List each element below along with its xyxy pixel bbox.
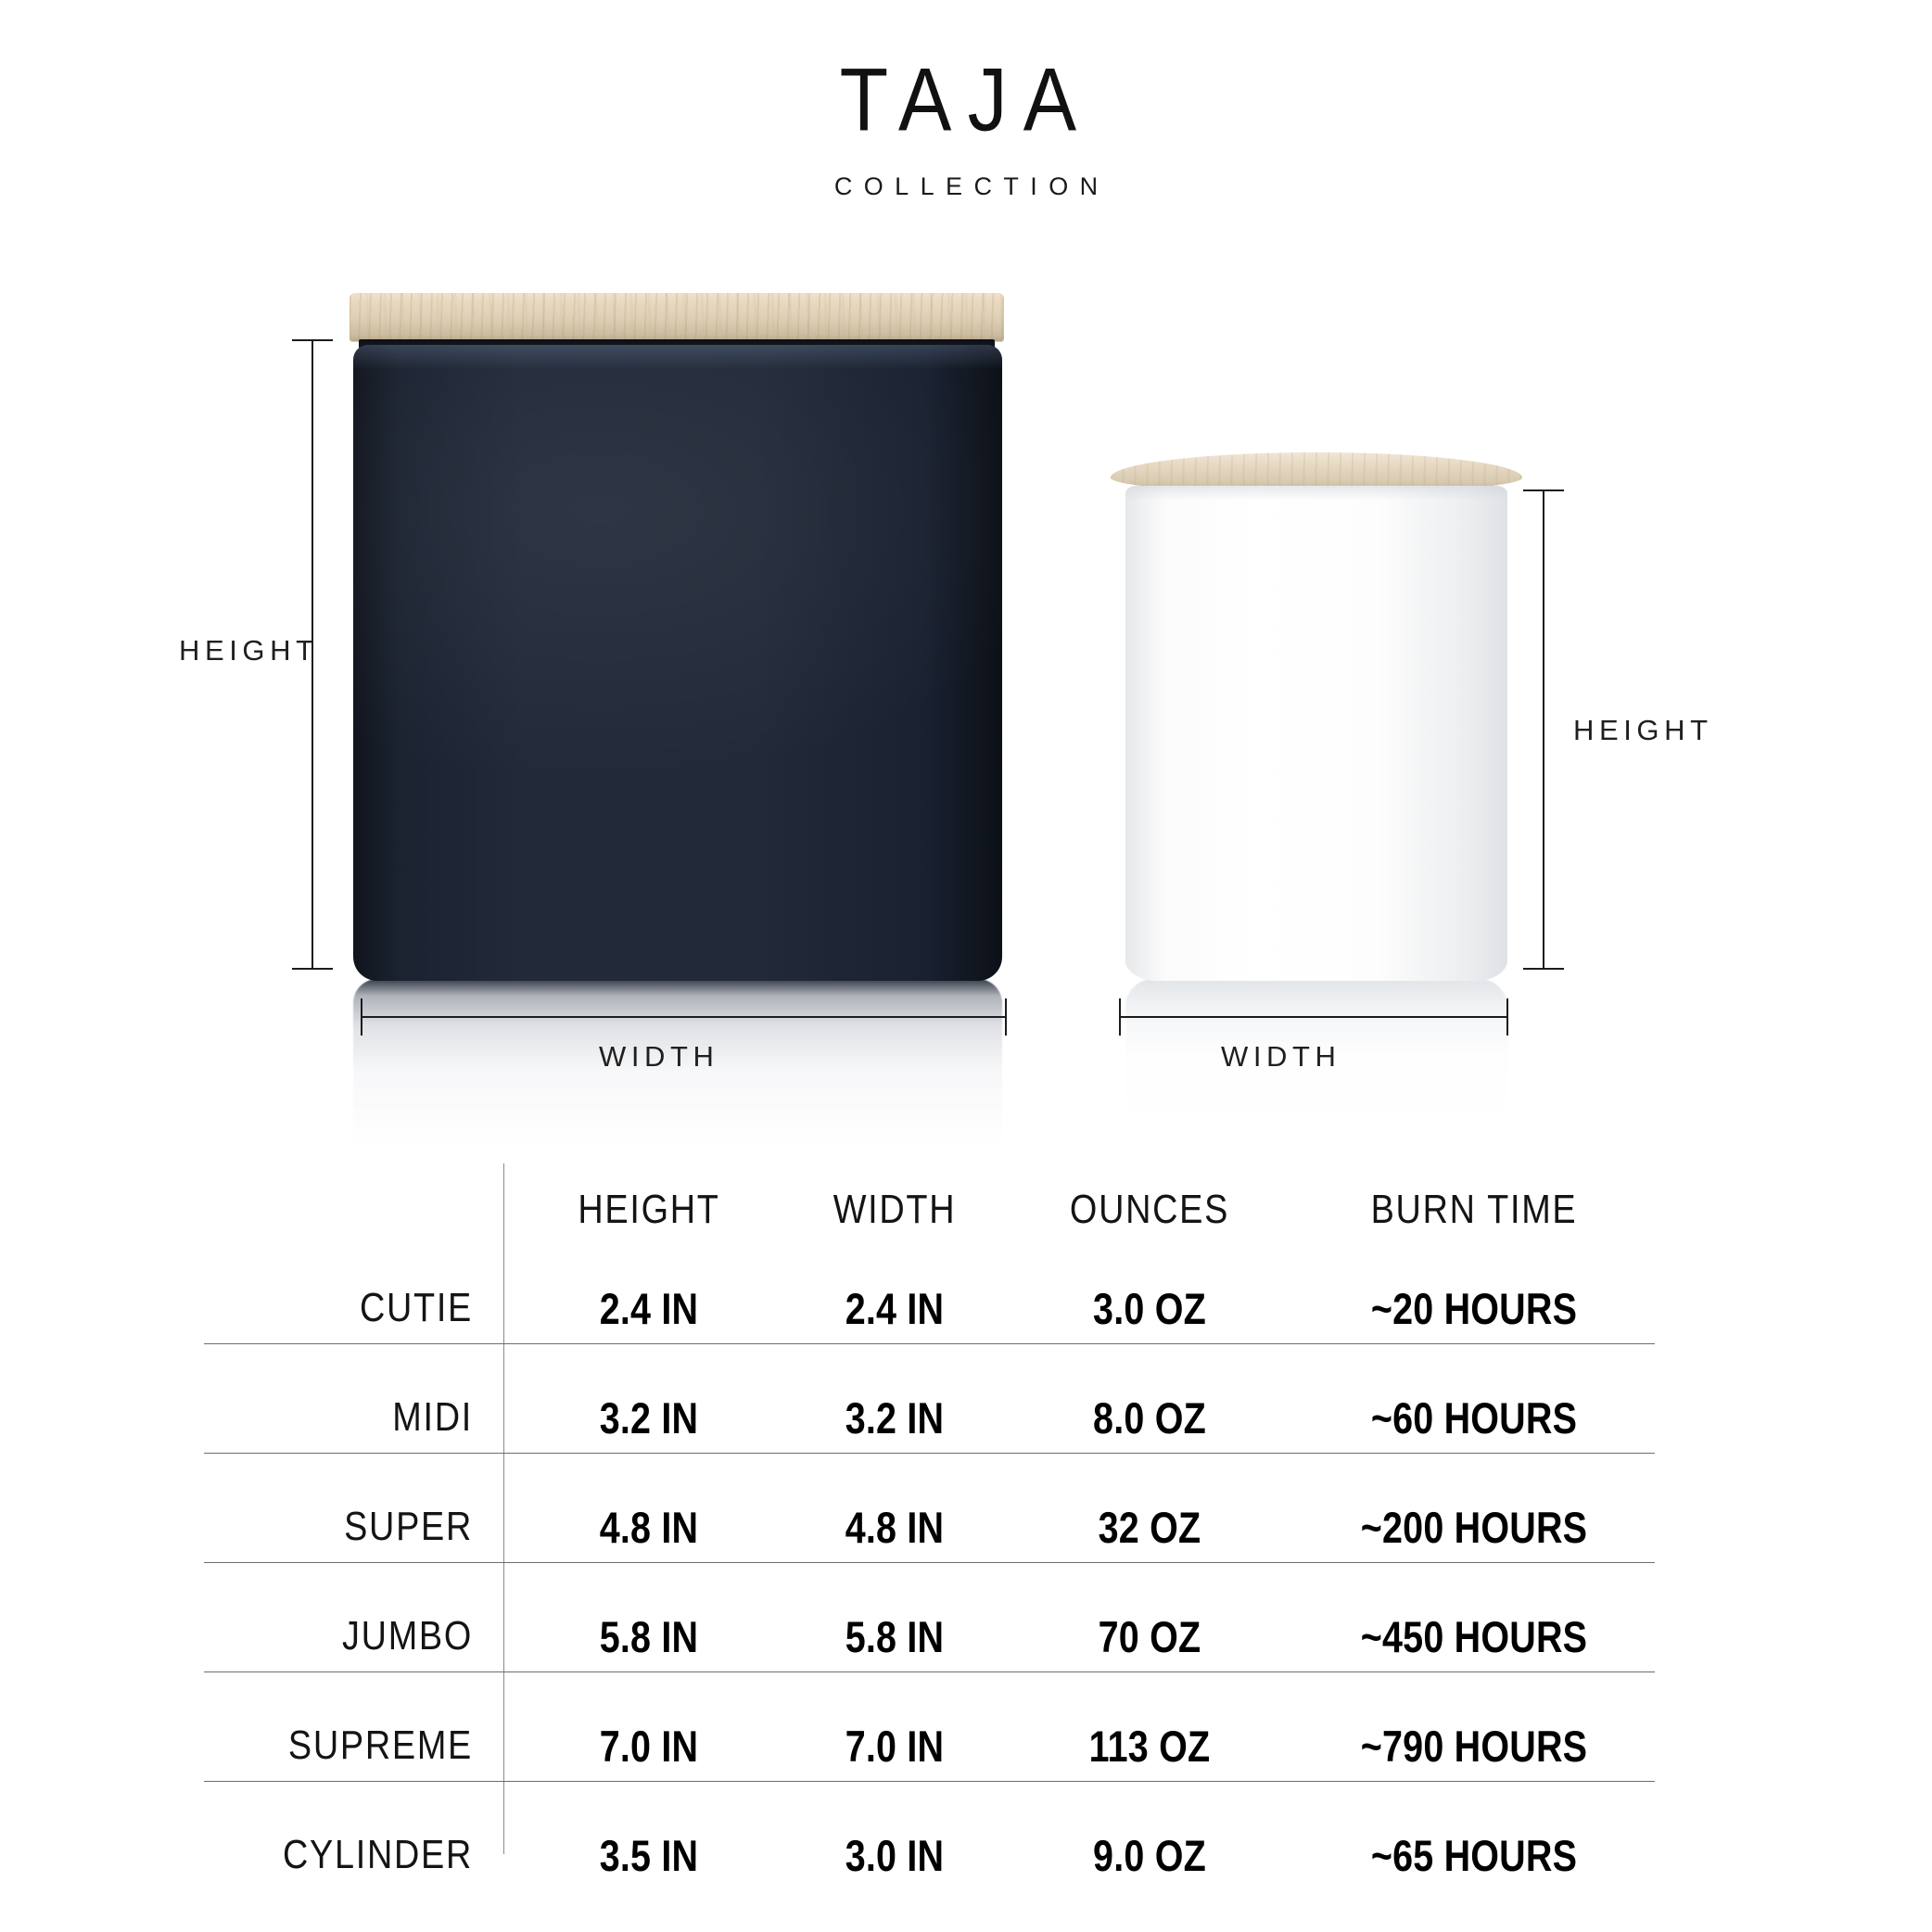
cell-supreme-ounces: 113 OZ	[1049, 1721, 1251, 1772]
cell-jumbo-height: 5.8 IN	[555, 1611, 743, 1662]
white-vessel-body	[1125, 486, 1507, 981]
size-guide-page: TAJA COLLECTION HEIGHT WIDTH HEIGHT WIDT…	[0, 0, 1932, 1932]
column-header-ounces: OUNCES	[1046, 1187, 1253, 1233]
cell-cutie-width: 2.4 IN	[801, 1283, 988, 1334]
cell-cylinder-burn-time: ~65 HOURS	[1318, 1830, 1630, 1881]
cell-jumbo-width: 5.8 IN	[801, 1611, 988, 1662]
cell-cylinder-ounces: 9.0 OZ	[1049, 1830, 1251, 1881]
table-row-divider	[204, 1562, 1655, 1563]
column-header-height: HEIGHT	[553, 1187, 744, 1233]
cell-midi-width: 3.2 IN	[801, 1392, 988, 1443]
column-header-burn-time: BURN TIME	[1315, 1187, 1633, 1233]
table-column-divider	[503, 1163, 504, 1854]
row-label-super: SUPER	[242, 1504, 473, 1550]
cylinder-candle-width-label: WIDTH	[1221, 1040, 1341, 1074]
row-label-cylinder: CYLINDER	[202, 1832, 473, 1878]
cylinder-candle-width-rule	[1119, 1016, 1508, 1018]
square-candle-width-label: WIDTH	[599, 1040, 718, 1074]
cell-jumbo-burn-time: ~450 HOURS	[1318, 1611, 1630, 1662]
cell-supreme-width: 7.0 IN	[801, 1721, 988, 1772]
wood-lid-icon	[350, 293, 1004, 341]
square-candle-width-rule	[361, 1016, 1007, 1018]
cell-midi-height: 3.2 IN	[555, 1392, 743, 1443]
table-row-divider	[204, 1343, 1655, 1344]
cell-cutie-ounces: 3.0 OZ	[1049, 1283, 1251, 1334]
row-label-midi: MIDI	[242, 1394, 473, 1441]
cell-super-burn-time: ~200 HOURS	[1318, 1502, 1630, 1553]
product-photo-stage: HEIGHT WIDTH HEIGHT WIDTH	[0, 0, 1932, 1131]
cell-supreme-burn-time: ~790 HOURS	[1318, 1721, 1630, 1772]
cell-midi-ounces: 8.0 OZ	[1049, 1392, 1251, 1443]
cell-cylinder-width: 3.0 IN	[801, 1830, 988, 1881]
square-candle-navy	[342, 293, 1011, 981]
square-candle-height-label: HEIGHT	[179, 634, 319, 667]
navy-vessel-body	[353, 345, 1002, 981]
table-row-divider	[204, 1671, 1655, 1672]
row-label-supreme: SUPREME	[210, 1722, 473, 1769]
row-label-jumbo: JUMBO	[242, 1613, 473, 1659]
cell-cylinder-height: 3.5 IN	[555, 1830, 743, 1881]
row-label-cutie: CUTIE	[242, 1285, 473, 1331]
cell-super-width: 4.8 IN	[801, 1502, 988, 1553]
cell-supreme-height: 7.0 IN	[555, 1721, 743, 1772]
cell-cutie-height: 2.4 IN	[555, 1283, 743, 1334]
cell-super-ounces: 32 OZ	[1049, 1502, 1251, 1553]
cylinder-candle-white	[1111, 452, 1522, 981]
table-row-divider	[204, 1453, 1655, 1454]
cell-cutie-burn-time: ~20 HOURS	[1318, 1283, 1630, 1334]
cylinder-candle-height-rule	[1543, 489, 1544, 970]
cell-super-height: 4.8 IN	[555, 1502, 743, 1553]
cell-midi-burn-time: ~60 HOURS	[1318, 1392, 1630, 1443]
table-row-divider	[204, 1781, 1655, 1782]
cell-jumbo-ounces: 70 OZ	[1049, 1611, 1251, 1662]
cylinder-candle-height-label: HEIGHT	[1573, 714, 1713, 747]
column-header-width: WIDTH	[799, 1187, 990, 1233]
